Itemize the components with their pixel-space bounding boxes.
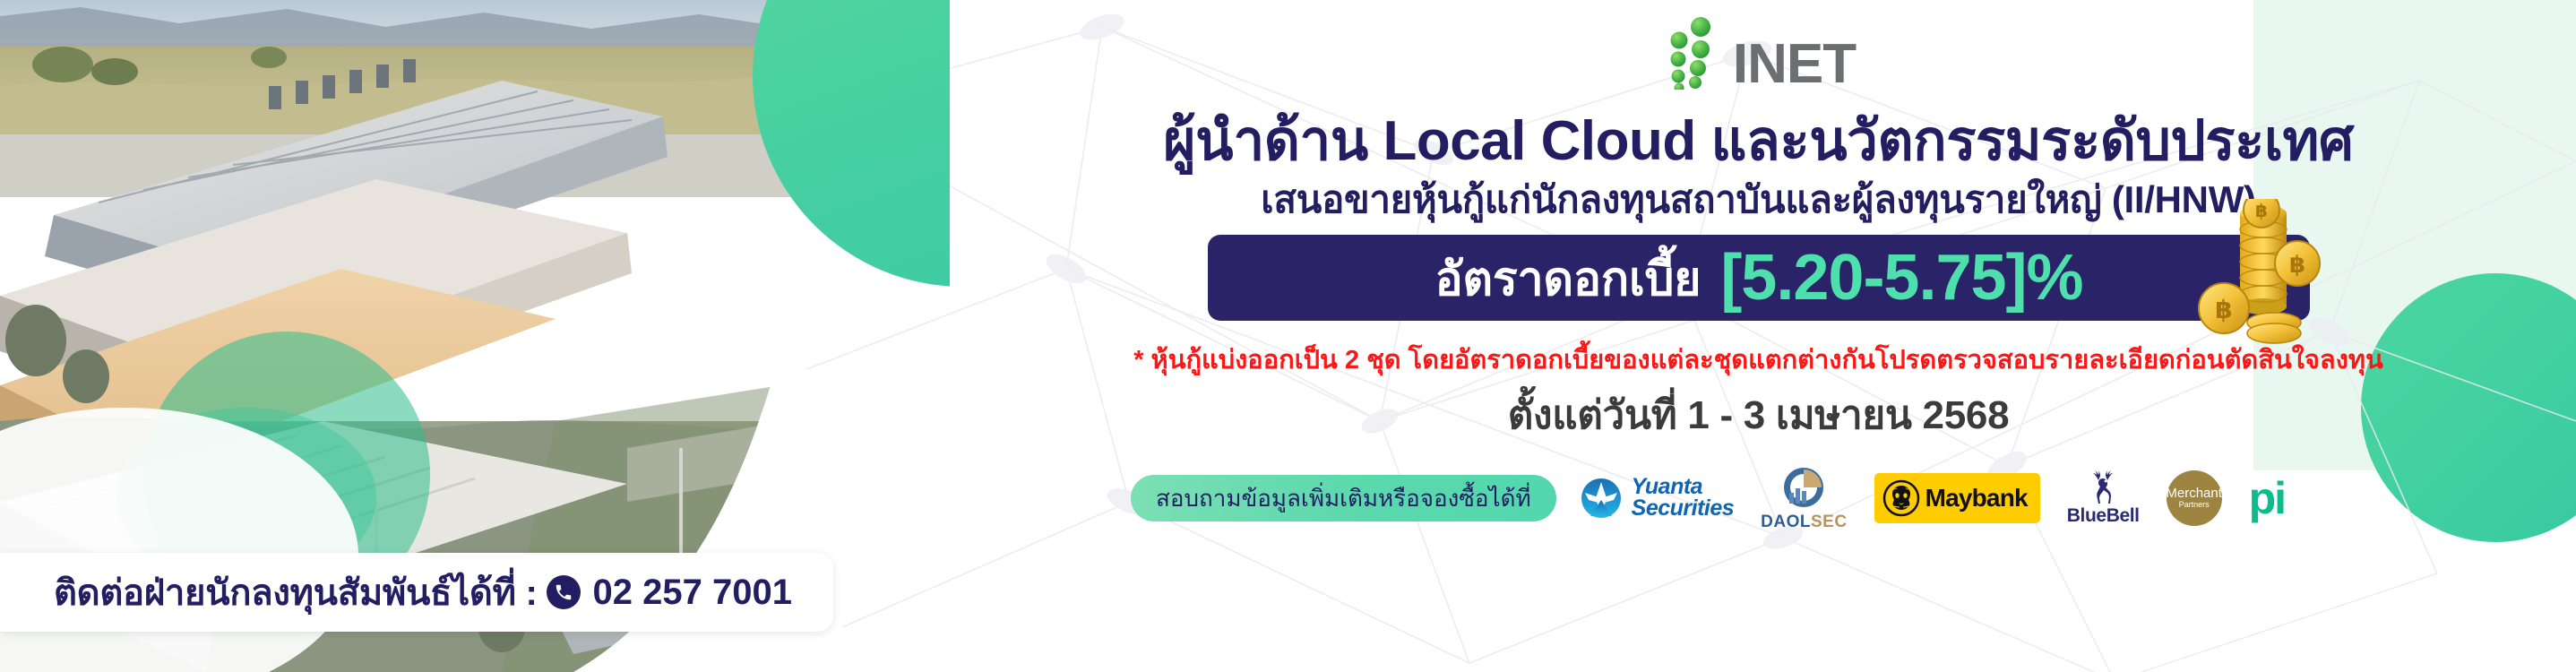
merchant-line2: Partners xyxy=(2179,500,2210,510)
svg-text:฿: ฿ xyxy=(2289,252,2305,279)
pi-wordmark: pi xyxy=(2249,480,2285,516)
partner-logo-yuanta[interactable]: Yuanta Securities xyxy=(1580,477,1735,520)
investor-relations-contact-box[interactable]: ติดต่อฝ่ายนักลงทุนสัมพันธ์ได้ที่ : 02 25… xyxy=(0,553,833,632)
inet-logo: INET xyxy=(1661,16,1856,90)
bluebell-wordmark: BlueBell xyxy=(2067,505,2140,527)
promotional-banner: ติดต่อฝ่ายนักลงทุนสัมพันธ์ได้ที่ : 02 25… xyxy=(0,0,2576,672)
contact-phone-number: 02 257 7001 xyxy=(593,573,792,613)
contact-label: ติดต่อฝ่ายนักลงทุนสัมพันธ์ได้ที่ : xyxy=(54,564,538,621)
daol-line2: SEC xyxy=(1811,513,1848,531)
inet-wordmark: INET xyxy=(1733,39,1856,90)
main-content-column: INET ผู้นำด้าน Local Cloud และนวัตกรรมระ… xyxy=(941,0,2576,672)
svg-text:฿: ฿ xyxy=(2215,295,2232,324)
bluebell-deer-icon xyxy=(2082,470,2124,505)
merchant-line1: Merchant xyxy=(2166,487,2222,500)
partner-logo-maybank[interactable]: Maybank xyxy=(1874,473,2040,523)
gold-coins-icon: ฿ ฿ ฿ xyxy=(2192,199,2326,351)
yuanta-star-icon xyxy=(1580,477,1623,520)
partner-logos: Yuanta Securities xyxy=(1580,464,2285,532)
interest-rate-label: อัตราดอกเบี้ย xyxy=(1434,241,1701,315)
interest-rate-box: อัตราดอกเบี้ย [5.20-5.75]% xyxy=(1208,235,2310,321)
inquiry-cta-label: สอบถามข้อมูลเพิ่มเติมหรือจองซื้อได้ที่ xyxy=(1156,480,1531,517)
partner-logo-merchant-partners[interactable]: Merchant Partners xyxy=(2167,470,2222,526)
daol-circle-icon xyxy=(1780,464,1827,511)
daol-line1: DAOL xyxy=(1761,513,1811,531)
subheadline: เสนอขายหุ้นกู้แก่นักลงทุนสถาบันและผู้ลงท… xyxy=(941,170,2576,229)
interest-rate-value: [5.20-5.75]% xyxy=(1720,241,2082,314)
maybank-tiger-icon xyxy=(1882,479,1920,517)
yuanta-line2: Securities xyxy=(1632,498,1735,520)
partner-logo-bluebell[interactable]: BlueBell xyxy=(2067,470,2140,527)
logo-row: INET xyxy=(941,16,2576,90)
inet-dots-icon xyxy=(1661,16,1731,90)
maybank-wordmark: Maybank xyxy=(1926,484,2028,513)
inquiry-cta-button[interactable]: สอบถามข้อมูลเพิ่มเติมหรือจองซื้อได้ที่ xyxy=(1131,475,1556,521)
partner-logo-pi[interactable]: pi xyxy=(2249,480,2285,516)
cta-and-partners-row: สอบถามข้อมูลเพิ่มเติมหรือจองซื้อได้ที่ xyxy=(941,464,2576,532)
partner-logo-daol[interactable]: DAOLSEC xyxy=(1761,464,1847,532)
svg-text:฿: ฿ xyxy=(2255,200,2268,221)
phone-icon xyxy=(547,575,581,609)
offering-date-text: ตั้งแต่วันที่ 1 - 3 เมษายน 2568 xyxy=(941,383,2576,446)
